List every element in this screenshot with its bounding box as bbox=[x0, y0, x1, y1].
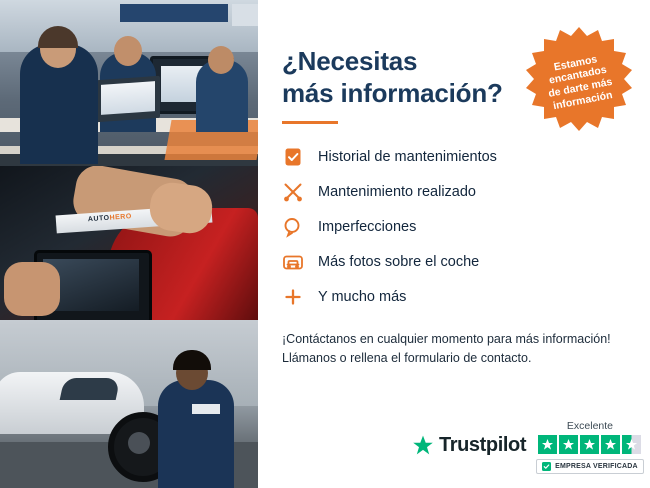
verified-label: EMPRESA VERIFICADA bbox=[555, 463, 638, 470]
star-rating bbox=[538, 435, 641, 454]
title-underline bbox=[282, 121, 338, 124]
rating-label: Excelente bbox=[567, 420, 613, 432]
photo-car-lift-mechanic bbox=[0, 320, 258, 488]
photo-column: AUTOHERO bbox=[0, 0, 258, 488]
trustpilot-widget: Trustpilot Excelente EMPRESA VERIFICADA bbox=[412, 420, 644, 474]
star-icon bbox=[601, 435, 620, 454]
list-item: Y mucho más bbox=[282, 280, 624, 314]
search-circle-icon bbox=[282, 216, 304, 238]
info-card: AUTOHERO ¿Necesitas más información? bbox=[0, 0, 650, 488]
verified-company-badge: EMPRESA VERIFICADA bbox=[536, 459, 644, 474]
trustpilot-logo: Trustpilot bbox=[412, 434, 526, 457]
headline-line-2: más información? bbox=[282, 78, 503, 108]
list-item: Más fotos sobre el coche bbox=[282, 245, 624, 279]
contact-note: ¡Contáctanos en cualquier momento para m… bbox=[282, 330, 624, 368]
feature-label: Historial de mantenimientos bbox=[318, 149, 497, 165]
contact-note-line-1: ¡Contáctanos en cualquier momento para m… bbox=[282, 332, 611, 346]
photo-office-advisors bbox=[0, 0, 258, 166]
feature-label: Imperfecciones bbox=[318, 219, 416, 235]
feature-label: Y mucho más bbox=[318, 289, 406, 305]
autohero-ruler-logo: AUTOHERO bbox=[88, 213, 132, 223]
tools-icon bbox=[282, 181, 304, 203]
trustpilot-name: Trustpilot bbox=[439, 434, 526, 457]
star-icon bbox=[559, 435, 578, 454]
feature-list: Historial de mantenimientos Mantenimient… bbox=[282, 140, 624, 314]
content-panel: ¿Necesitas más información? Historial de… bbox=[258, 0, 650, 488]
list-item: Mantenimiento realizado bbox=[282, 175, 624, 209]
feature-label: Más fotos sobre el coche bbox=[318, 254, 479, 270]
star-icon bbox=[538, 435, 557, 454]
photo-inspection-ruler: AUTOHERO bbox=[0, 166, 258, 320]
plus-icon bbox=[282, 286, 304, 308]
trustpilot-rating: Excelente EMPRESA VERIFICADA bbox=[536, 420, 644, 474]
star-icon bbox=[580, 435, 599, 454]
list-item: Historial de mantenimientos bbox=[282, 140, 624, 174]
camera-car-icon bbox=[282, 251, 304, 273]
verified-check-icon bbox=[542, 462, 551, 471]
star-half-icon bbox=[622, 435, 641, 454]
feature-label: Mantenimiento realizado bbox=[318, 184, 476, 200]
clipboard-check-icon bbox=[282, 146, 304, 168]
contact-note-line-2: Llámanos o rellena el formulario de cont… bbox=[282, 351, 531, 365]
status-badge: Estamos encantados de darte más informac… bbox=[524, 26, 634, 136]
trustpilot-star-icon bbox=[412, 435, 434, 456]
headline-line-1: ¿Necesitas bbox=[282, 46, 417, 76]
list-item: Imperfecciones bbox=[282, 210, 624, 244]
